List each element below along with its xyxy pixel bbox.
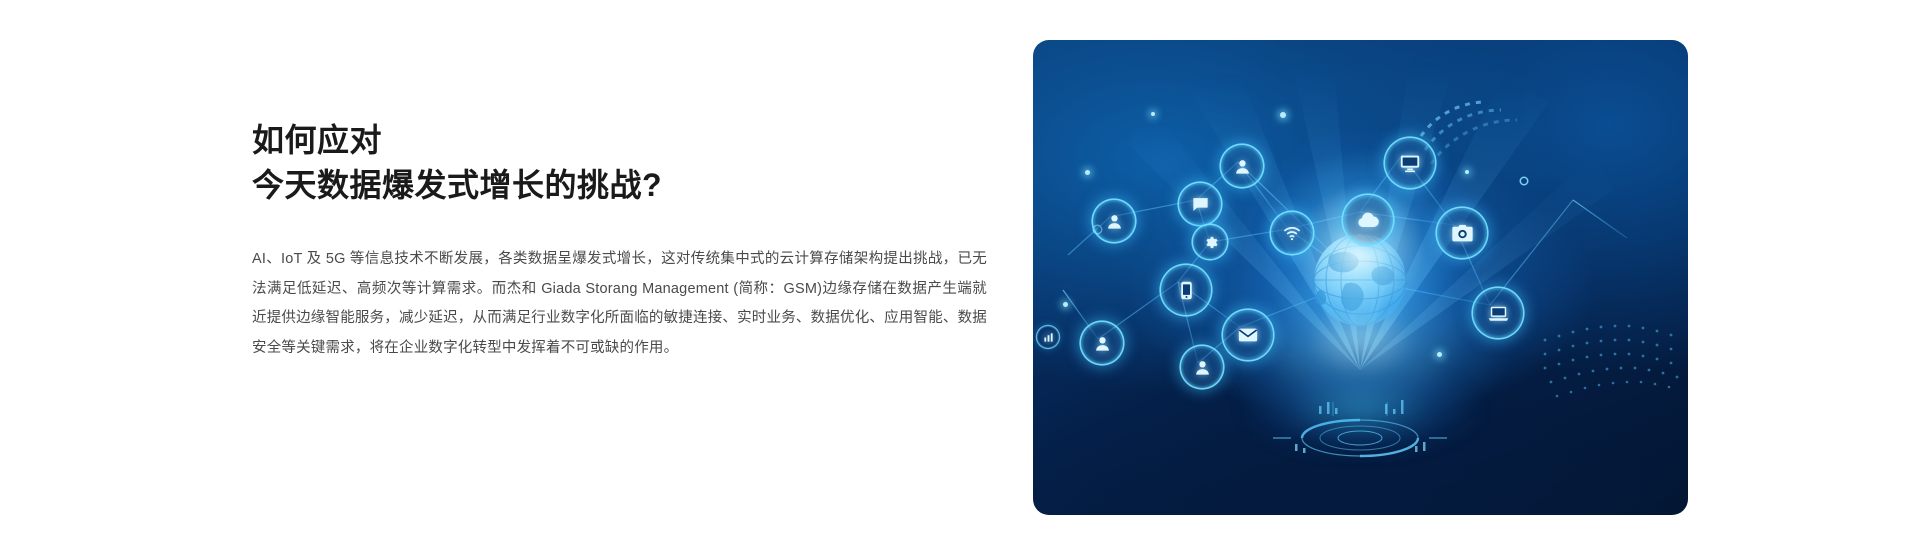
hero-illustration — [1033, 40, 1688, 515]
page-root: 如何应对 今天数据爆发式增长的挑战? AI、IoT 及 5G 等信息技术不断发展… — [0, 0, 1920, 554]
headline-line-2: 今天数据爆发式增长的挑战? — [252, 163, 992, 208]
network-vector-layer — [1033, 40, 1688, 515]
page-title: 如何应对 今天数据爆发式增长的挑战? — [252, 118, 992, 209]
globe-icon — [1314, 234, 1406, 326]
body-paragraph: AI、IoT 及 5G 等信息技术不断发展，各类数据呈爆发式增长，这对传统集中式… — [252, 245, 987, 364]
hud-base — [1273, 402, 1447, 456]
text-column: 如何应对 今天数据爆发式增长的挑战? AI、IoT 及 5G 等信息技术不断发展… — [252, 118, 992, 364]
headline-line-1: 如何应对 — [252, 118, 992, 163]
dot-mesh-right — [1544, 325, 1679, 398]
